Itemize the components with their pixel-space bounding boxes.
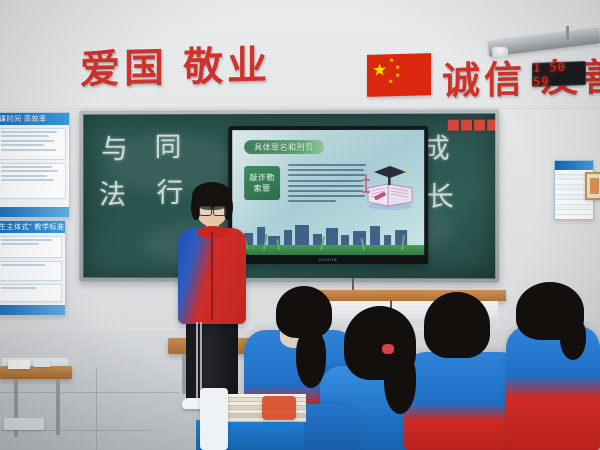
poster-class-efficiency: 课时间 高效率 [0,112,70,218]
chalk-char-left-2: 同 [155,134,182,161]
pants-stripe [196,322,198,400]
books-under-desk [4,418,44,430]
student-bag [200,388,228,450]
law-book-illustration [360,160,416,212]
desk-paper [8,360,30,369]
screen-brand-bar: CDNHB [228,255,428,264]
chalk-char-left-3: 法 [99,182,126,209]
student-ponytail [560,318,586,360]
desk-leg [56,379,60,435]
law-book-icon [360,160,416,212]
slide-topic-badge: 敲诈勒索罪 [244,166,280,200]
hair-tie [382,344,394,354]
student-hair [424,292,490,358]
floor-tile-line [0,392,180,393]
student-ponytail [296,330,326,388]
red-notebook [262,396,296,420]
clock-display: 1 50 59 [533,59,585,89]
poster-teaching-standard: 生主体式" 教学标准 [0,220,66,316]
floor-tile-line [96,368,97,450]
chalk-char-right-4: 长 [427,184,454,211]
interactive-whiteboard[interactable]: 具体罪名和刑罚 敲诈勒索罪 [228,126,428,264]
slogan-segment-1: 爱国 敬业 [80,38,271,99]
led-wall-clock: 1 50 59 [532,61,586,87]
wall-slogan-banner: 爱国 敬业 ★ ★ ★ ★ ★ 诚信 友善 [70,38,560,100]
poster-1-header: 课时间 高效率 [0,114,46,124]
flag-star-large: ★ [372,61,387,78]
floor-tile-line [0,430,150,431]
slide-body-text [288,164,366,206]
chalk-char-left-4: 行 [157,180,184,207]
whiteboard-screen[interactable]: 具体罪名和刑罚 敲诈勒索罪 [232,130,424,255]
flag-star-small: ★ [395,65,400,71]
presenter-collar [197,226,229,238]
poster-2-header: 生主体式" 教学标准 [0,222,64,232]
schedule-header [555,161,593,170]
student-uniform [404,352,522,450]
slide-title-pill: 具体罪名和刑罚 [244,140,323,154]
desk-paper [34,359,50,367]
flag-star-small: ★ [395,73,400,79]
student-uniform [506,326,600,450]
poster-2-body [0,233,65,308]
glasses-lens [213,206,226,216]
screen-brand-label: CDNHB [318,257,337,262]
flag-star-small: ★ [389,58,394,64]
slide-grass [232,245,424,255]
student-ponytail [384,352,416,414]
light-mount [566,26,569,40]
glasses-bridge [210,209,213,210]
jacket-zipper [211,232,213,320]
slide-city-skyline [232,225,424,255]
poster-1-body [0,125,69,205]
topic-badge-text: 敲诈勒索罪 [249,172,274,194]
slide-title: 具体罪名和刑罚 [254,142,313,153]
glasses-lens [199,206,212,216]
flag-star-small: ★ [388,79,393,85]
classroom-photo: 爱国 敬业 ★ ★ ★ ★ ★ 诚信 友善 1 50 59 与 同 法 行 健 … [0,0,600,450]
learning-corner-sign [448,120,496,131]
national-flag-icon: ★ ★ ★ ★ ★ [367,53,431,97]
chalk-char-left-1: 与 [101,136,128,163]
